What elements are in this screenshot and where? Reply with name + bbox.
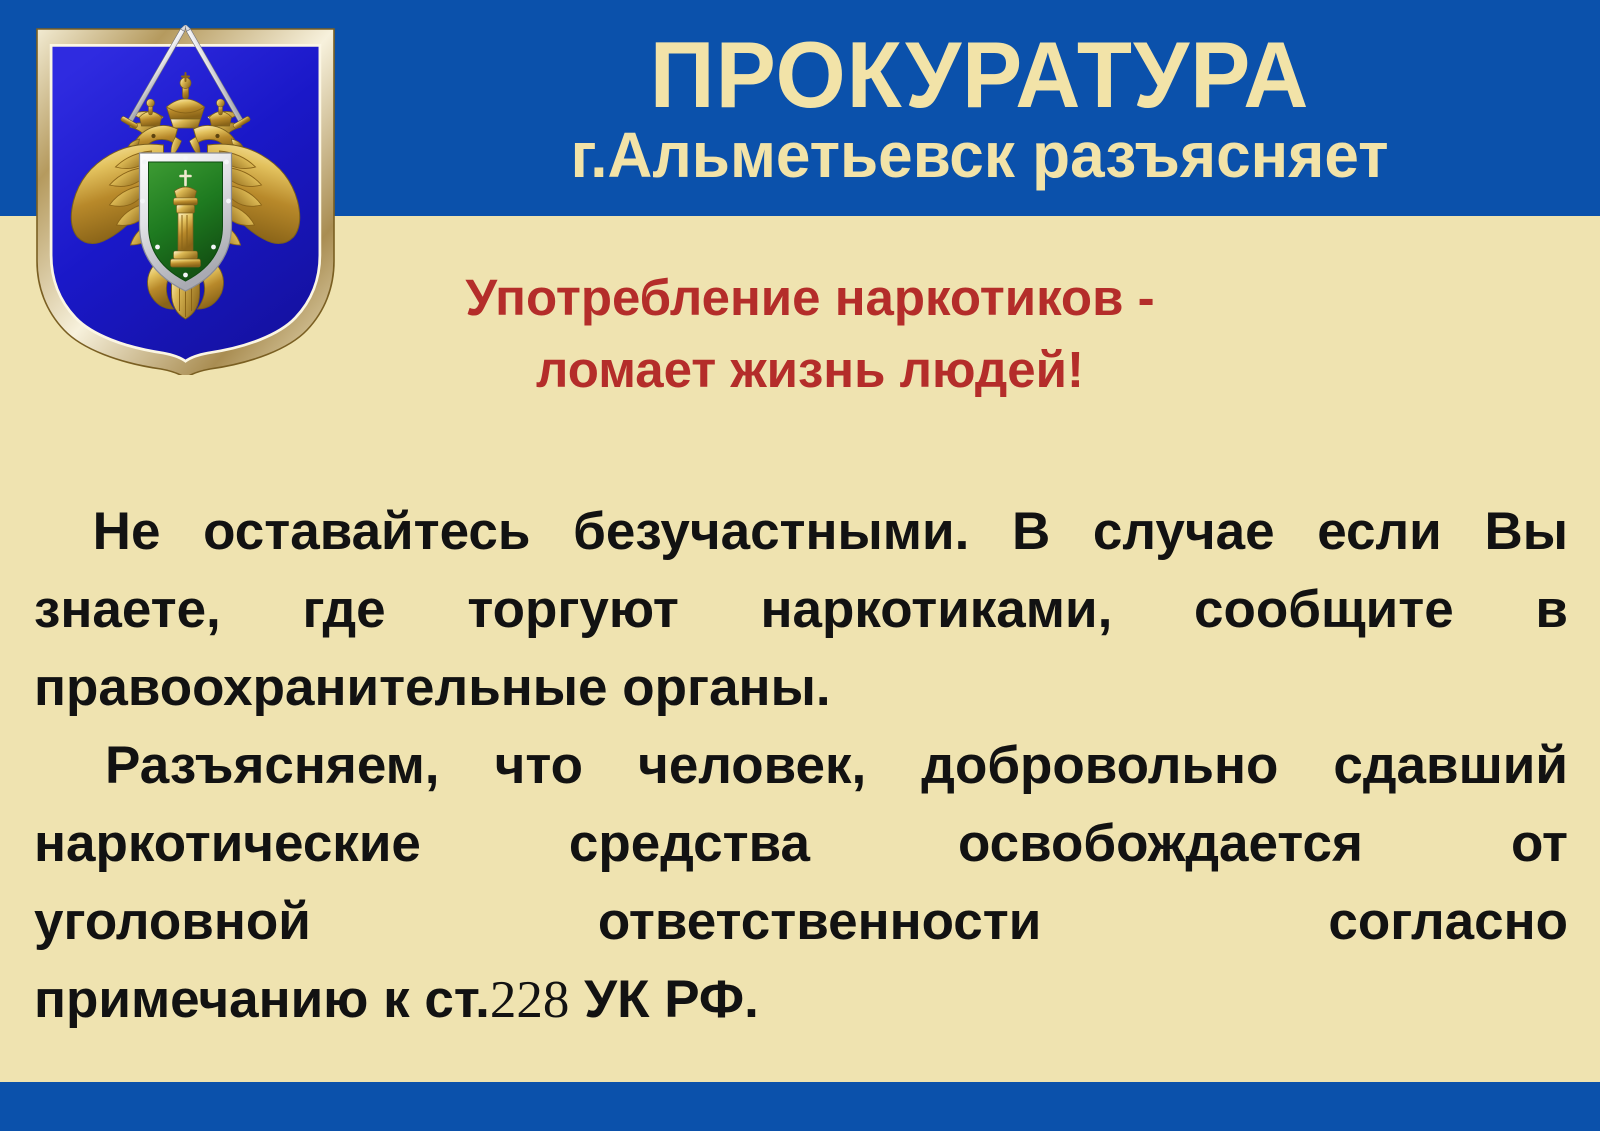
p2-line-4-suffix: УК РФ. <box>569 970 758 1029</box>
p2-line-4: примечанию к ст.228 УК РФ. <box>34 961 1568 1039</box>
paragraph-1: Не оставайтесь безучастными. В случае ес… <box>34 493 1568 727</box>
poster-root: ПРОКУРАТУРА г.Альметьевск разъясняет Упо… <box>0 0 1600 1131</box>
p2-line-3: уголовной ответственности согласно <box>34 883 1568 961</box>
p2-line-4-prefix: примечанию к ст. <box>34 970 490 1029</box>
p1-line-1: Не оставайтесь безучастными. В случае ес… <box>34 493 1568 571</box>
headline: Употребление наркотиков - ломает жизнь л… <box>360 262 1260 407</box>
headline-line-1: Употребление наркотиков - <box>360 262 1260 334</box>
page-title: ПРОКУРАТУРА <box>650 29 1310 121</box>
prosecutor-office-emblem-icon <box>33 25 338 375</box>
p1-line-2: знаете, где торгуют наркотиками, сообщит… <box>34 571 1568 649</box>
footer-band <box>0 1082 1600 1131</box>
body-copy: Не оставайтесь безучастными. В случае ес… <box>34 493 1568 1039</box>
headline-line-2: ломает жизнь людей! <box>360 334 1260 406</box>
header-text-block: ПРОКУРАТУРА г.Альметьевск разъясняет <box>360 0 1600 216</box>
p1-line-3: правоохранительные органы. <box>34 649 1568 727</box>
paragraph-2: Разъясняем, что человек, добровольно сда… <box>34 727 1568 1039</box>
page-subtitle: г.Альметьевск разъясняет <box>571 123 1389 187</box>
p2-line-1: Разъясняем, что человек, добровольно сда… <box>34 727 1568 805</box>
p2-line-2: наркотические средства освобождается от <box>34 805 1568 883</box>
article-number: 228 <box>490 971 570 1029</box>
